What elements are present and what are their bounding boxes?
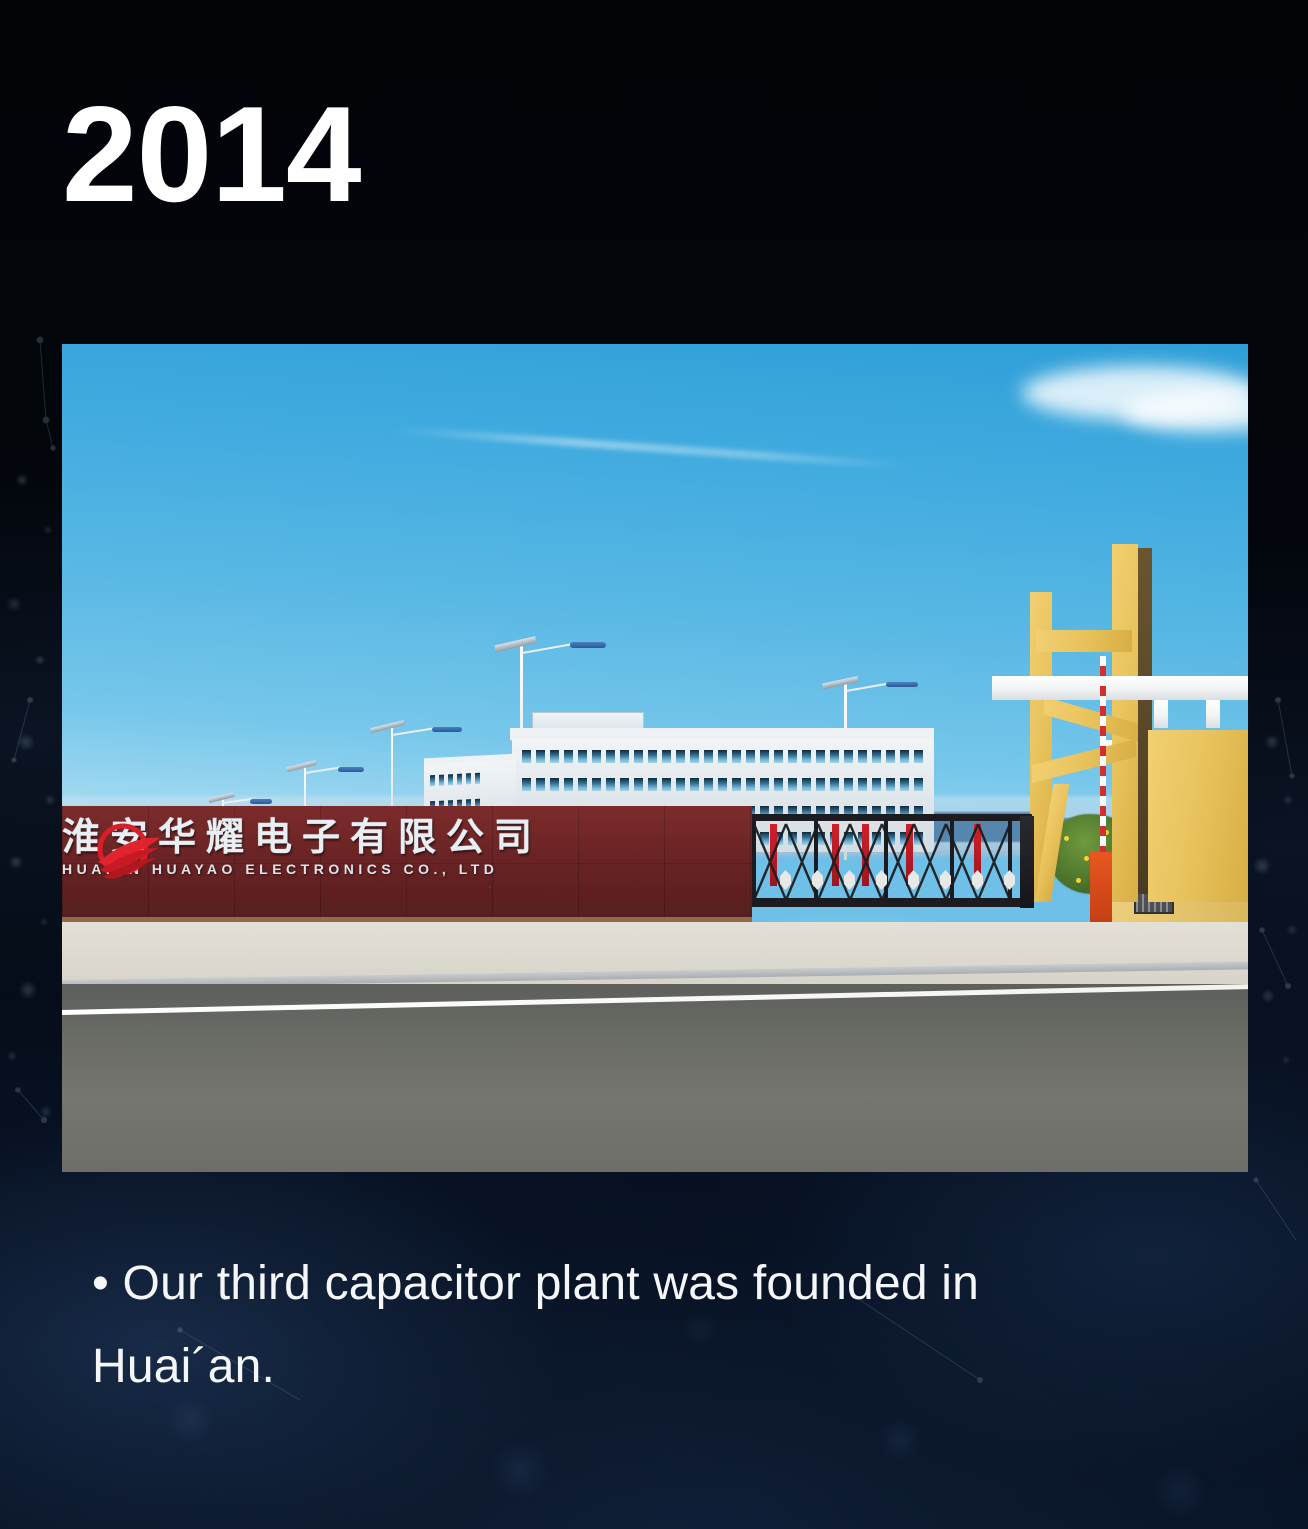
asphalt-road bbox=[62, 984, 1248, 1172]
factory-photo: 淮安华耀电子有限公司 HUAIAN HUAYAO ELECTRONICS CO.… bbox=[62, 344, 1248, 1172]
barrier-post bbox=[1090, 852, 1112, 922]
street-lamp-head bbox=[886, 682, 918, 687]
slide-root: 2014 bbox=[0, 0, 1308, 1529]
caption-text: • Our third capacitor plant was founded … bbox=[92, 1243, 1192, 1408]
street-lamp-head bbox=[338, 767, 364, 772]
company-logo-icon bbox=[90, 822, 162, 882]
company-signage-wall: 淮安华耀电子有限公司 HUAIAN HUAYAO ELECTRONICS CO.… bbox=[62, 806, 752, 922]
retractable-gate bbox=[752, 814, 1032, 922]
company-name-english: HUAIAN HUAYAO ELECTRONICS CO., LTD bbox=[62, 861, 752, 877]
caption-line: • Our third capacitor plant was founded … bbox=[92, 1243, 1192, 1326]
page-title-year: 2014 bbox=[62, 86, 361, 222]
gate-control-post bbox=[1020, 816, 1034, 908]
company-name-chinese: 淮安华耀电子有限公司 bbox=[62, 806, 752, 861]
street-lamp-head bbox=[570, 642, 606, 648]
street-lamp-head bbox=[250, 799, 272, 804]
caption-line: Huai´an. bbox=[92, 1326, 1192, 1409]
